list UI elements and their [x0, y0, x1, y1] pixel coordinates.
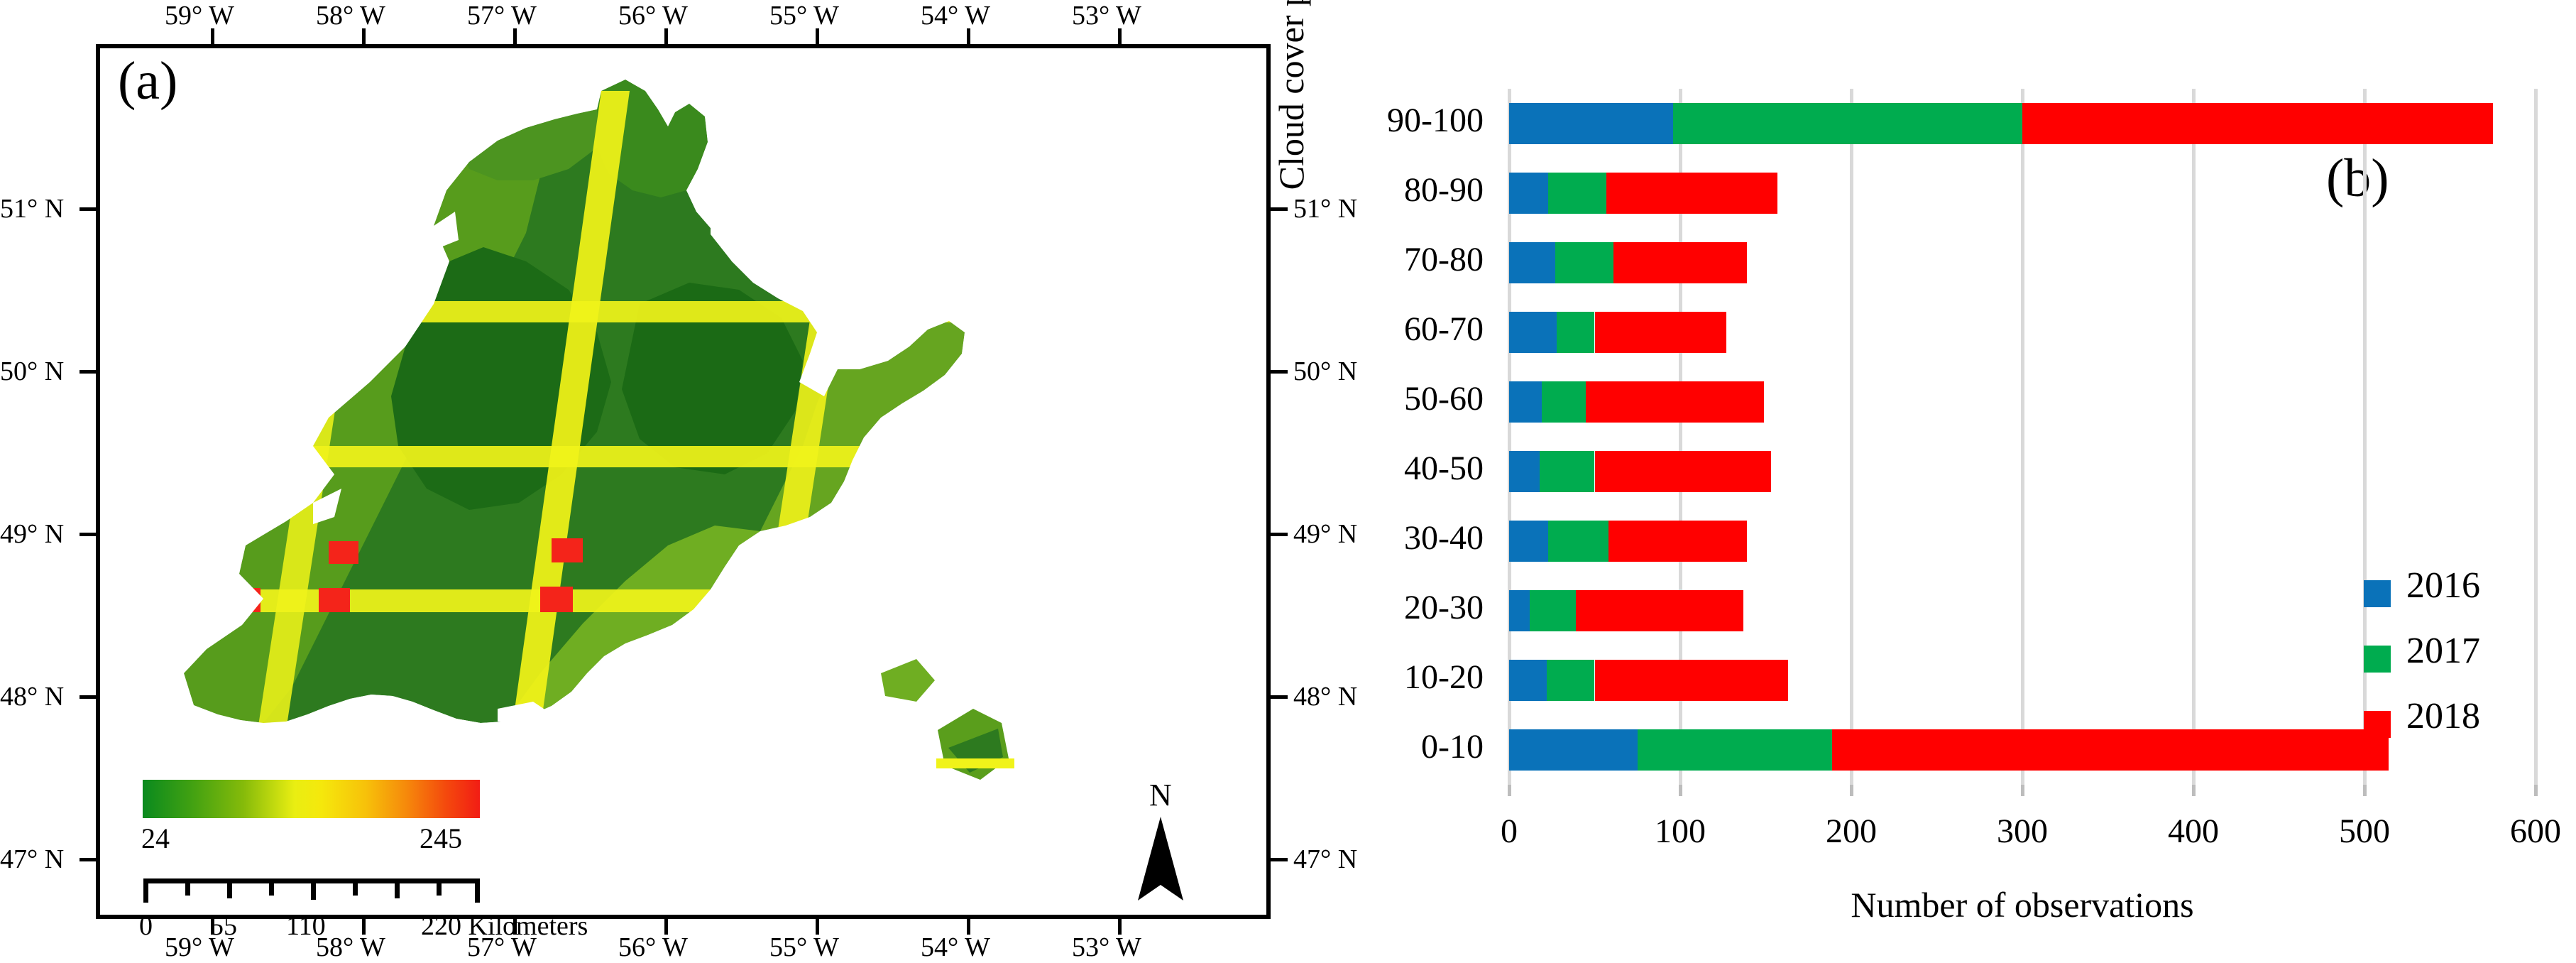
y-tick-label: 70-80	[1404, 240, 1484, 279]
lon-label-top-4: 55° W	[769, 0, 839, 31]
bar-segment-2017[interactable]	[1542, 381, 1586, 423]
bar-segment-2016[interactable]	[1509, 312, 1557, 353]
lon-label-top-0: 59° W	[165, 0, 234, 31]
bar-segment-2016[interactable]	[1509, 103, 1673, 144]
bar-row[interactable]	[1509, 173, 2536, 214]
bar-segment-2016[interactable]	[1509, 451, 1540, 492]
bar-segment-2018[interactable]	[1613, 242, 1747, 283]
bar-segment-2018[interactable]	[1595, 660, 1788, 701]
x-tick-mark	[1850, 785, 1853, 796]
x-tick-label: 0	[1438, 812, 1580, 851]
lat-label-left-1: 50° N	[0, 356, 64, 387]
bar-row[interactable]	[1509, 312, 2536, 353]
x-tick-mark	[2363, 785, 2367, 796]
scalebar-tick	[353, 878, 358, 896]
colorbar-max-label: 245	[420, 822, 462, 855]
y-tick-label: 10-20	[1404, 658, 1484, 697]
bar-row[interactable]	[1509, 451, 2536, 492]
lat-tick-left	[80, 695, 97, 699]
x-tick-label: 600	[2465, 812, 2576, 851]
bar-segment-2016[interactable]	[1509, 521, 1548, 562]
x-tick-mark	[1508, 785, 1511, 796]
y-tick-label: 90-100	[1387, 101, 1484, 140]
map-panel: (a) 24 245 0 55 110 220 Kilometers N	[0, 0, 1278, 962]
lat-tick-left	[80, 533, 97, 536]
legend-swatch-icon	[2364, 646, 2391, 673]
bar-segment-2017[interactable]	[1547, 660, 1594, 701]
x-tick-label: 500	[2293, 812, 2435, 851]
bar-segment-2018[interactable]	[1595, 312, 1727, 353]
scalebar-tick	[227, 878, 232, 898]
scalebar-tick	[395, 878, 400, 898]
bar-segment-2018[interactable]	[1595, 451, 1771, 492]
lon-label-top-1: 58° W	[316, 0, 385, 31]
lon-label-bottom-4: 55° W	[769, 932, 839, 963]
bar-segment-2017[interactable]	[1638, 729, 1833, 771]
bar-row[interactable]	[1509, 521, 2536, 562]
lat-tick-left	[80, 207, 97, 211]
map-frame: (a) 24 245 0 55 110 220 Kilometers N	[96, 44, 1271, 919]
lon-label-bottom-2: 57° W	[467, 932, 537, 963]
scalebar-tick	[269, 878, 274, 896]
y-tick-label: 80-90	[1404, 170, 1484, 210]
x-tick-mark	[2534, 785, 2538, 796]
lon-label-bottom-1: 58° W	[316, 932, 385, 963]
x-tick-mark	[2192, 785, 2196, 796]
lon-label-bottom-5: 54° W	[921, 932, 990, 963]
bar-row[interactable]	[1509, 242, 2536, 283]
bar-segment-2018[interactable]	[1576, 590, 1743, 631]
x-tick-mark	[1679, 785, 1682, 796]
lon-label-top-2: 57° W	[467, 0, 537, 31]
legend-swatch-icon	[2364, 580, 2391, 607]
north-label: N	[1149, 777, 1172, 813]
lon-label-bottom-6: 53° W	[1072, 932, 1141, 963]
bar-row[interactable]	[1509, 381, 2536, 423]
bar-segment-2018[interactable]	[1586, 381, 1764, 423]
bar-segment-2017[interactable]	[1530, 590, 1576, 631]
bar-segment-2017[interactable]	[1555, 242, 1613, 283]
bar-segment-2017[interactable]	[1557, 312, 1594, 353]
map-scalebar	[143, 878, 480, 903]
bar-segment-2016[interactable]	[1509, 729, 1638, 771]
map-colorbar	[143, 780, 480, 818]
bar-segment-2016[interactable]	[1509, 381, 1542, 423]
scalebar-tick	[143, 878, 148, 903]
bar-segment-2018[interactable]	[1606, 173, 1777, 214]
x-axis-title: Number of observations	[1509, 884, 2536, 925]
scalebar-tick	[185, 878, 190, 896]
legend-label: 2017	[2406, 630, 2480, 672]
lon-label-bottom-3: 56° W	[618, 932, 688, 963]
bar-segment-2017[interactable]	[1673, 103, 2022, 144]
scalebar-tick	[437, 878, 442, 896]
bar-segment-2018[interactable]	[1608, 521, 1747, 562]
lat-tick-left	[80, 370, 97, 374]
lon-label-top-3: 56° W	[618, 0, 688, 31]
bar-segment-2018[interactable]	[2022, 103, 2493, 144]
bar-segment-2016[interactable]	[1509, 242, 1555, 283]
lon-label-top-6: 53° W	[1072, 0, 1141, 31]
y-tick-label: 30-40	[1404, 518, 1484, 557]
bar-segment-2017[interactable]	[1548, 521, 1608, 562]
y-tick-label: 50-60	[1404, 379, 1484, 418]
y-tick-label: 60-70	[1404, 310, 1484, 349]
x-tick-label: 400	[2122, 812, 2264, 851]
lon-label-bottom-0: 59° W	[165, 932, 234, 963]
bar-segment-2016[interactable]	[1509, 590, 1530, 631]
lon-label-top-5: 54° W	[921, 0, 990, 31]
lat-label-left-2: 49° N	[0, 518, 64, 550]
bar-segment-2018[interactable]	[1832, 729, 2388, 771]
lat-label-left-3: 48° N	[0, 681, 64, 712]
bar-chart-panel: (b) Cloud cover percentage Number of obs…	[1278, 0, 2576, 962]
colorbar-min-label: 24	[141, 822, 170, 855]
y-tick-label: 20-30	[1404, 588, 1484, 627]
bar-segment-2016[interactable]	[1509, 173, 1548, 214]
plot-area: 010020030040050060090-10080-9070-8060-70…	[1509, 89, 2536, 785]
legend-label: 2016	[2406, 565, 2480, 606]
x-tick-label: 200	[1780, 812, 1922, 851]
bar-segment-2017[interactable]	[1540, 451, 1594, 492]
scalebar-tick	[311, 878, 316, 900]
x-tick-label: 300	[1951, 812, 2093, 851]
y-tick-label: 40-50	[1404, 449, 1484, 488]
lat-tick-left	[80, 858, 97, 861]
scalebar-label-0: 0	[139, 910, 153, 942]
legend-swatch-icon	[2364, 711, 2391, 738]
lat-label-left-0: 51° N	[0, 193, 64, 224]
x-tick-mark	[2021, 785, 2024, 796]
panel-a-label: (a)	[118, 54, 177, 108]
lat-label-left-4: 47° N	[0, 844, 64, 875]
y-tick-label: 0-10	[1421, 727, 1484, 766]
north-arrow-icon	[1135, 817, 1186, 902]
x-tick-label: 100	[1609, 812, 1751, 851]
legend-label: 2018	[2406, 695, 2480, 737]
bar-segment-2016[interactable]	[1509, 660, 1547, 701]
bar-segment-2017[interactable]	[1548, 173, 1606, 214]
scalebar-tick	[475, 878, 480, 903]
y-axis-title: Cloud cover percentage	[1271, 0, 1312, 270]
bar-row[interactable]	[1509, 103, 2536, 144]
